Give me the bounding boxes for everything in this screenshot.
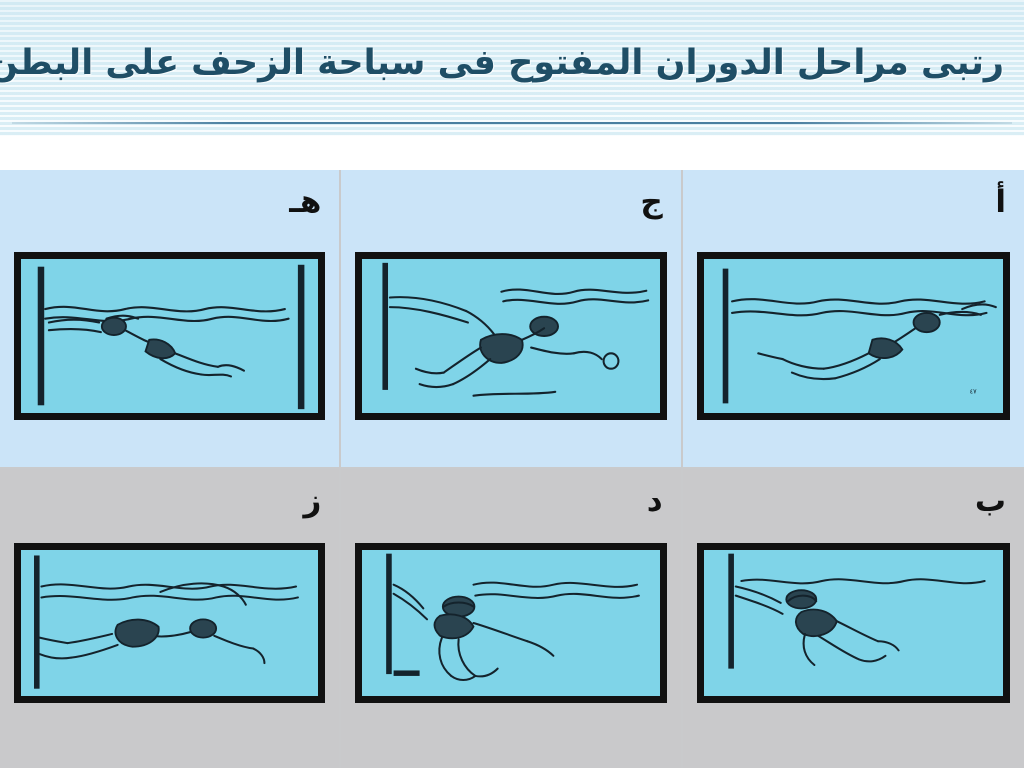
figure-cell-dal: د (341, 469, 682, 768)
figure-grid: هـ (0, 170, 1024, 768)
figure-image-alef: ٤٧ (697, 252, 1010, 420)
figure-label-jeem: ج (640, 182, 662, 222)
figure-image-jeem (355, 252, 666, 420)
figure-image-he (14, 252, 325, 420)
figure-label-he: هـ (289, 182, 321, 222)
slide-title: رتبى مراحل الدوران المفتوح فى سباحة الزح… (0, 38, 1004, 88)
svg-text:٤٧: ٤٧ (969, 388, 976, 396)
figure-label-dal: د (647, 481, 663, 521)
figure-cell-ba: ب (683, 469, 1024, 768)
header-divider (12, 122, 1012, 124)
slide: رتبى مراحل الدوران المفتوح فى سباحة الزح… (0, 0, 1024, 768)
figure-image-zay (14, 543, 325, 703)
figure-cell-alef: أ ٤٧ (683, 170, 1024, 469)
figure-label-zay: ز (303, 481, 321, 521)
figure-label-alef: أ (995, 182, 1006, 222)
figure-cell-he: هـ (0, 170, 341, 469)
figure-label-ba: ب (975, 481, 1006, 521)
figure-image-ba (697, 543, 1010, 703)
figure-image-dal (355, 543, 666, 703)
figure-cell-zay: ز (0, 469, 341, 768)
figure-cell-jeem: ج (341, 170, 682, 469)
